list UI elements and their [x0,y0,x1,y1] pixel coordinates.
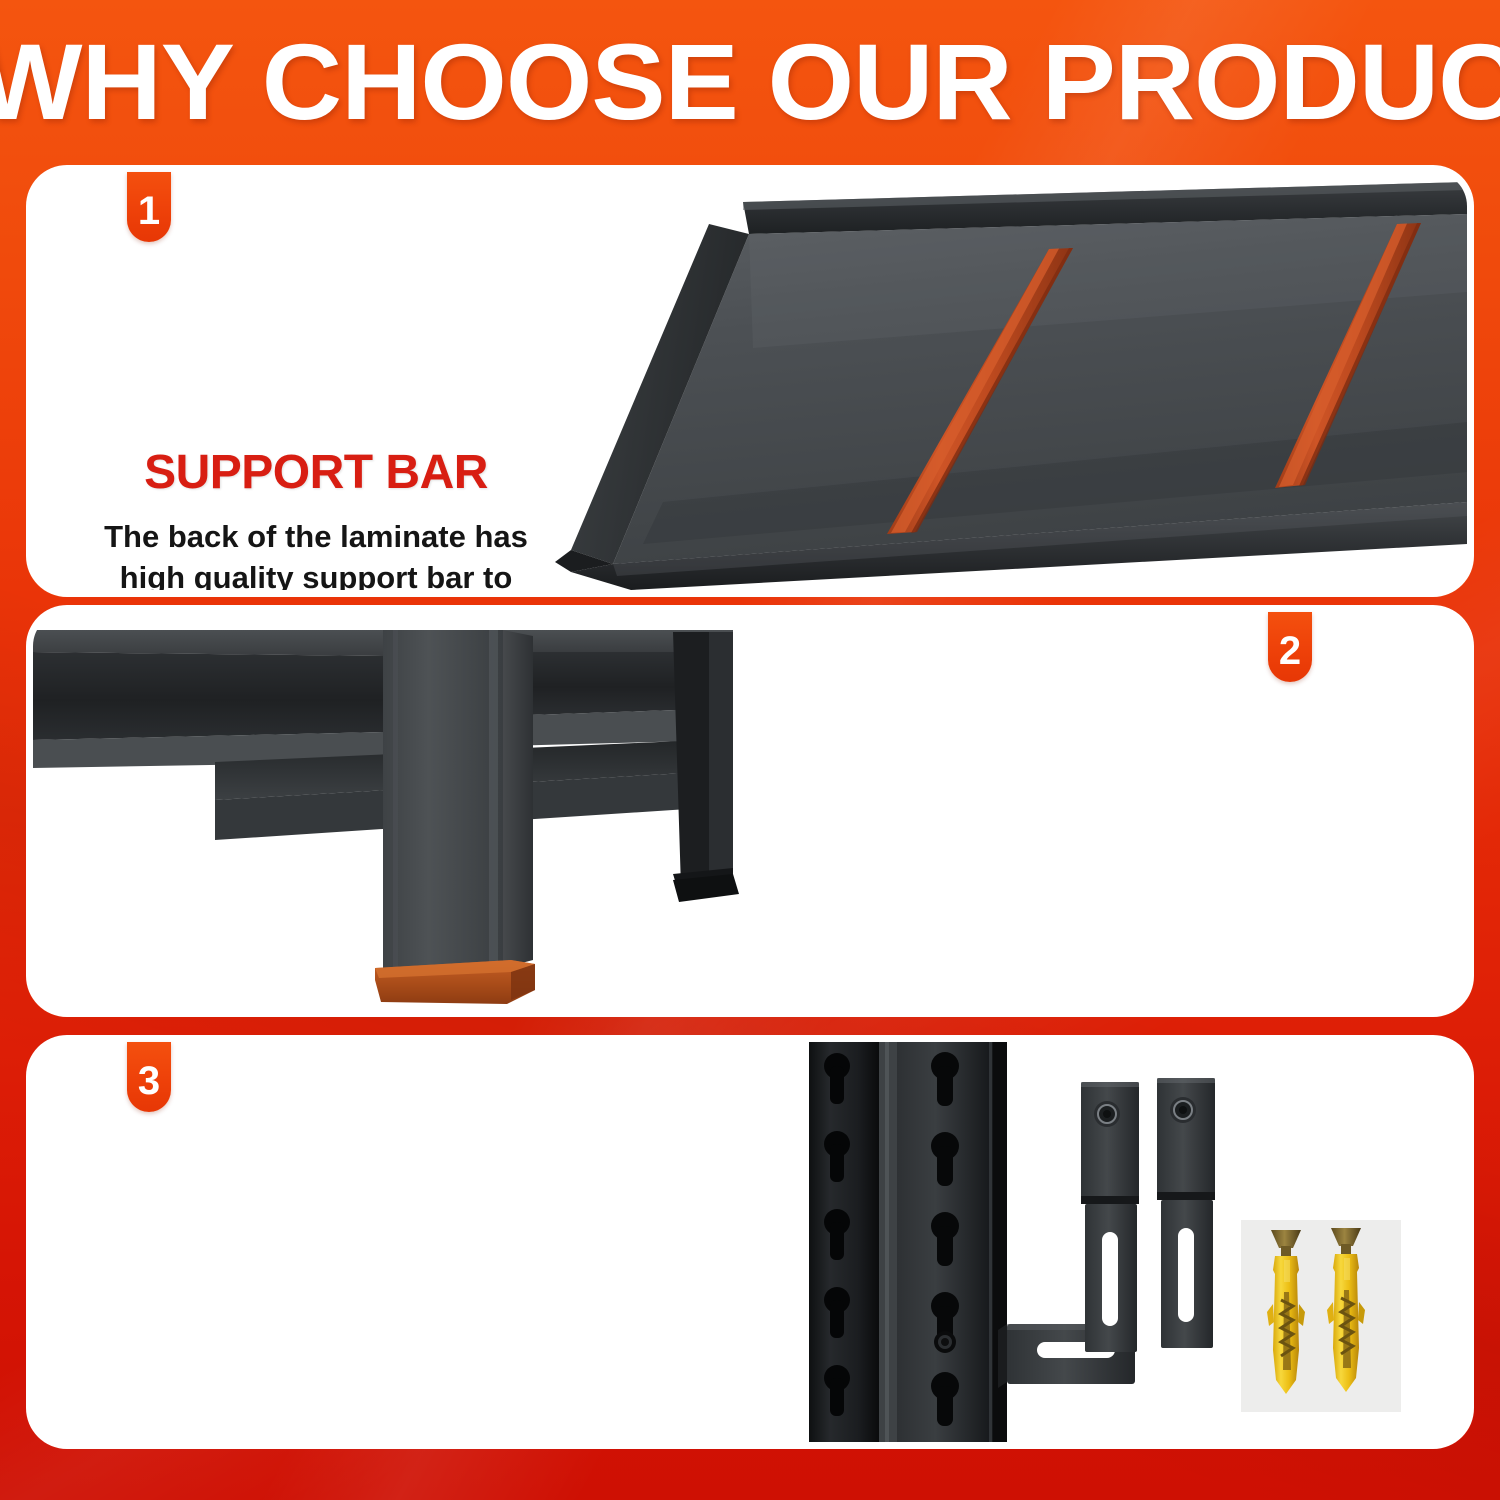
card-1-body: The back of the laminate has high qualit… [81,516,551,590]
page-title: WHY CHOOSE OUR PRODUCT [0,26,1500,138]
card-3-number-badge: 3 [127,1042,171,1112]
card-2-number-badge: 2 [1268,612,1312,682]
feature-card-anti-tipping-clips: ANTI-TIPPING CLIPS Anti-tipping clips ke… [33,1042,1467,1442]
card-1-number-badge: 1 [127,172,171,242]
foot-pads-product-image [33,612,853,1010]
card-1-heading: SUPPORT BAR [81,444,551,502]
card-1-text: SUPPORT BAR The back of the laminate has… [81,444,551,590]
feature-card-support-bar: SUPPORT BAR The back of the laminate has… [33,172,1467,590]
feature-card-foot-pads: FOOT PADS The Foot pads not only pro-tec… [33,612,1467,1010]
anti-tipping-clips-product-image [793,1042,1467,1442]
support-bar-product-image [513,172,1467,590]
